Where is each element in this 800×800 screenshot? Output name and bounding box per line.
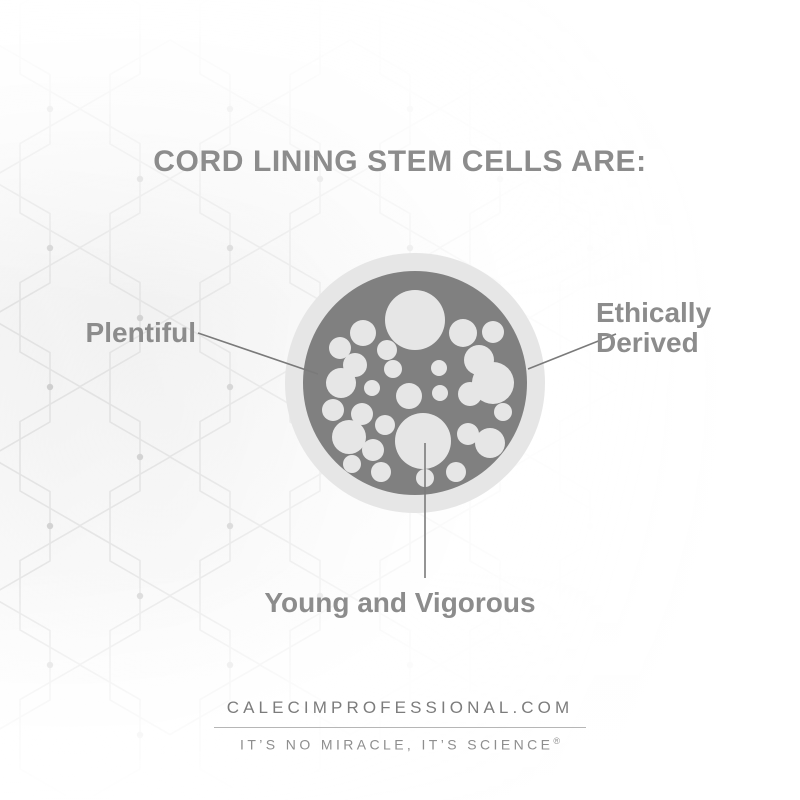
cell-vacuole <box>396 383 422 409</box>
cell-vacuole <box>384 360 402 378</box>
cell-vacuole <box>494 403 512 421</box>
footer-website[interactable]: CALECIMPROFESSIONAL.COM <box>0 698 800 718</box>
cell-vacuole <box>362 439 384 461</box>
cell-vacuole <box>482 321 504 343</box>
cell-vacuole <box>472 362 514 404</box>
cell-vacuole <box>385 290 445 350</box>
cell-vacuole <box>364 380 380 396</box>
cell-vacuole <box>350 320 376 346</box>
cell-vacuole <box>332 420 366 454</box>
callout-label-plentiful: Plentiful <box>20 318 196 348</box>
cell-vacuole <box>475 428 505 458</box>
callout-label-young-and-vigorous: Young and Vigorous <box>0 588 800 618</box>
cell-vacuole <box>375 415 395 435</box>
registered-trademark-icon: ® <box>553 736 560 746</box>
cell-vacuole <box>432 385 448 401</box>
cell-vacuole <box>343 455 361 473</box>
cell-vacuole <box>322 399 344 421</box>
callout-label-ethically-derived-line2: Derived <box>596 328 786 358</box>
footer-tagline: IT’S NO MIRACLE, IT’S SCIENCE® <box>0 736 800 753</box>
callout-label-ethically-derived: Ethically Derived <box>596 298 786 357</box>
poster-canvas: CORD LINING STEM CELLS ARE: Plentiful Et… <box>0 0 800 800</box>
stem-cell-diagram <box>0 0 800 800</box>
footer: CALECIMPROFESSIONAL.COM IT’S NO MIRACLE,… <box>0 698 800 753</box>
cell-vacuole <box>326 368 356 398</box>
cell-vacuole <box>431 360 447 376</box>
cell-vacuole <box>449 319 477 347</box>
cell-vacuole <box>377 340 397 360</box>
cell-vacuole <box>371 462 391 482</box>
footer-tagline-text: IT’S NO MIRACLE, IT’S SCIENCE <box>240 737 553 753</box>
footer-divider <box>214 727 586 728</box>
callout-label-ethically-derived-line1: Ethically <box>596 298 786 328</box>
cell-vacuole <box>446 462 466 482</box>
cell-vacuole <box>395 413 451 469</box>
